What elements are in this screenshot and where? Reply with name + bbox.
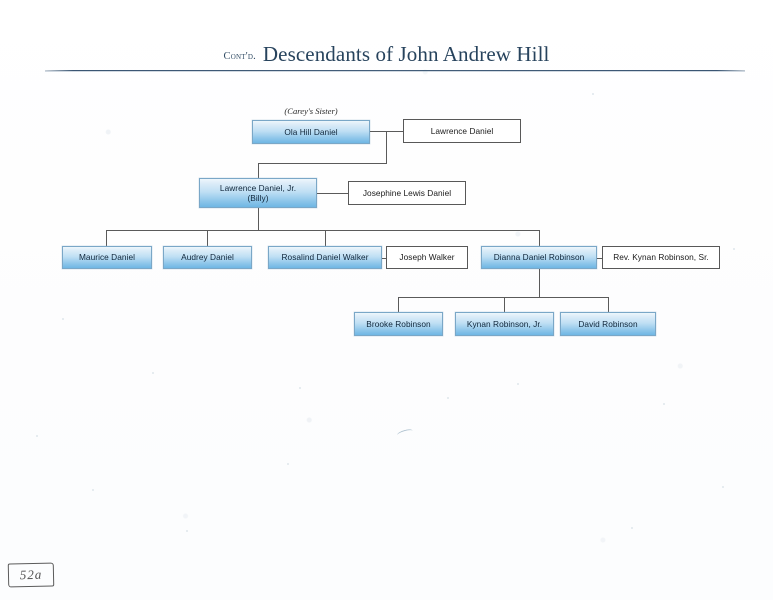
connector-into-david-robinson bbox=[608, 297, 609, 312]
node-label: Audrey Daniel bbox=[181, 252, 234, 262]
connector-into-brooke-robinson bbox=[398, 297, 399, 312]
connector-into-dianna-daniel-robinson bbox=[539, 230, 540, 246]
scan-speck bbox=[517, 383, 519, 385]
node-dianna-daniel-robinson[interactable]: Dianna Daniel Robinson bbox=[481, 246, 597, 269]
node-audrey-daniel[interactable]: Audrey Daniel bbox=[163, 246, 252, 269]
node-david-robinson[interactable]: David Robinson bbox=[560, 312, 656, 336]
node-josephine-lewis-daniel[interactable]: Josephine Lewis Daniel bbox=[348, 181, 466, 205]
scan-speck bbox=[733, 248, 735, 250]
header-divider-shadow bbox=[45, 71, 745, 72]
node-label: Joseph Walker bbox=[399, 252, 454, 262]
node-lawrence-daniel[interactable]: Lawrence Daniel bbox=[403, 119, 521, 143]
node-label: Brooke Robinson bbox=[366, 319, 430, 329]
scan-speck bbox=[36, 435, 38, 437]
node-rev-kynan-robinson-sr[interactable]: Rev. Kynan Robinson, Sr. bbox=[602, 246, 720, 269]
connector-into-audrey-daniel bbox=[207, 230, 208, 246]
scan-speck bbox=[722, 486, 724, 488]
scan-speck bbox=[152, 372, 154, 374]
connector-drop-gen3 bbox=[539, 269, 540, 297]
node-label: Ola Hill Daniel bbox=[284, 127, 337, 137]
node-label: Rosalind Daniel Walker bbox=[281, 252, 368, 262]
connector-marriage-dianna-kynan bbox=[597, 258, 602, 259]
scan-speck bbox=[631, 527, 633, 529]
node-label: Dianna Daniel Robinson bbox=[494, 252, 585, 262]
paper-texture bbox=[0, 0, 773, 600]
connector-marriage-gen2 bbox=[317, 193, 348, 194]
scan-speck bbox=[592, 93, 594, 95]
connector-into-kynan-robinson-jr bbox=[504, 297, 505, 312]
connector-sibling-bus-gen4 bbox=[398, 297, 608, 298]
node-label: Lawrence Daniel, Jr. bbox=[220, 183, 296, 193]
connector-into-lawrence-jr bbox=[258, 163, 259, 178]
node-joseph-walker[interactable]: Joseph Walker bbox=[386, 246, 468, 269]
scan-speck bbox=[62, 318, 64, 320]
node-label-secondary: (Billy) bbox=[247, 193, 268, 203]
node-label: Josephine Lewis Daniel bbox=[363, 188, 451, 198]
node-rosalind-daniel-walker[interactable]: Rosalind Daniel Walker bbox=[268, 246, 382, 269]
node-maurice-daniel[interactable]: Maurice Daniel bbox=[62, 246, 152, 269]
connector-drop-gen1 bbox=[386, 131, 387, 163]
scan-speck bbox=[663, 403, 665, 405]
node-brooke-robinson[interactable]: Brooke Robinson bbox=[354, 312, 443, 336]
handwritten-page-number: 52a bbox=[8, 563, 54, 588]
scan-speck bbox=[299, 387, 301, 389]
node-label: Rev. Kynan Robinson, Sr. bbox=[613, 252, 709, 262]
node-label: David Robinson bbox=[578, 319, 637, 329]
scan-speck bbox=[447, 397, 449, 399]
scan-speck bbox=[92, 489, 94, 491]
caption-careys-sister: (Carey's Sister) bbox=[252, 106, 370, 116]
scan-speck bbox=[287, 463, 289, 465]
node-kynan-robinson-jr[interactable]: Kynan Robinson, Jr. bbox=[455, 312, 554, 336]
connector-run-gen1 bbox=[258, 163, 387, 164]
page-title: Descendants of John Andrew Hill bbox=[263, 42, 550, 66]
scanned-genealogy-page: Cont'd.Descendants of John Andrew Hill (… bbox=[0, 0, 773, 600]
connector-sibling-bus-gen3 bbox=[106, 230, 539, 231]
node-label: Kynan Robinson, Jr. bbox=[467, 319, 542, 329]
node-label: Lawrence Daniel bbox=[431, 126, 494, 136]
connector-into-rosalind-daniel-walker bbox=[325, 230, 326, 246]
connector-drop-gen2 bbox=[258, 208, 259, 230]
stray-pencil-mark bbox=[396, 428, 413, 438]
node-lawrence-daniel-jr[interactable]: Lawrence Daniel, Jr. (Billy) bbox=[199, 178, 317, 208]
node-ola-hill-daniel[interactable]: Ola Hill Daniel bbox=[252, 120, 370, 144]
continued-label: Cont'd. bbox=[224, 51, 256, 62]
connector-into-maurice-daniel bbox=[106, 230, 107, 246]
node-label: Maurice Daniel bbox=[79, 252, 135, 262]
scan-speck bbox=[186, 530, 188, 532]
page-header: Cont'd.Descendants of John Andrew Hill bbox=[0, 42, 773, 67]
connector-marriage-rosalind-joseph bbox=[382, 258, 386, 259]
